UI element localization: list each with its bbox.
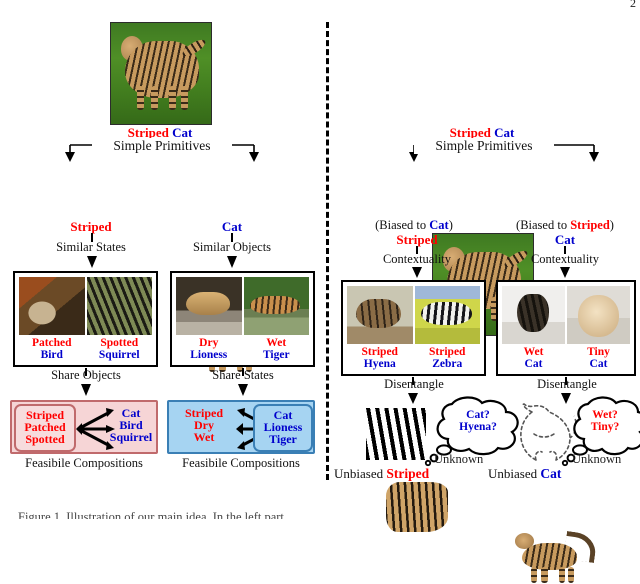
right-cell-2-object: Cat (502, 359, 565, 371)
right-result-0-arrow (405, 393, 421, 406)
right-primitive-1-bias-open: (Biased to (516, 218, 570, 232)
left-panel-1-arrow (224, 256, 240, 270)
left-composition-0-states-group: Striped Patched Spotted (14, 404, 76, 452)
right-result-0-bubble-line-1: Hyena? (440, 422, 516, 434)
right-primitive-0-label: Striped (396, 232, 437, 247)
left-cell-3-object: Tiger (244, 350, 310, 362)
right-cell-2-image (502, 286, 565, 344)
right-result-1-caption-prefix: Unbiased (488, 466, 540, 481)
right-primitive-0-bias-close: ) (449, 218, 453, 232)
figure-caption: Figure 1. Illustration of our main idea.… (18, 510, 628, 519)
left-comp-0-arrow (78, 384, 94, 398)
right-primitive-0-bias: (Biased to Cat) (340, 218, 488, 233)
left-cell-0-object: Bird (19, 350, 85, 362)
right-primitive-1-bias-close: ) (610, 218, 614, 232)
right-cell-1-object: Zebra (415, 359, 481, 371)
right-cell-0-state: Striped (347, 347, 413, 359)
right-simple-primitives-label: Simple Primitives (414, 138, 554, 154)
right-result-0-caption: Unbiased Striped (334, 466, 429, 482)
right-cell-1-image (415, 286, 481, 344)
right-result-0-texture (366, 408, 426, 460)
right-primitive-1-bias: (Biased to Striped) (490, 218, 640, 233)
left-composition-1-state-2: Wet (173, 431, 235, 443)
right-result-0-caption-word: Striped (386, 466, 429, 481)
right-cell-3-state: Tiny (567, 347, 630, 359)
right-panel-disentangle-object: Wet Cat Tiny Cat (496, 280, 636, 376)
right-primitive-0-bias-target: Cat (429, 218, 448, 232)
left-composition-1-objects-group: Cat Lioness Tiger (253, 404, 313, 452)
right-cell-2-state: Wet (502, 347, 565, 359)
left-primitive-0-sub: Similar States (36, 240, 146, 255)
left-comp-1-arrow (235, 384, 251, 398)
left-cell-0-state: Patched (19, 338, 85, 350)
left-cell-2-image (176, 277, 242, 335)
left-cell-0-image (19, 277, 85, 335)
right-primitive-1-sub: Contextuality (506, 252, 624, 267)
left-composition-0: Striped Patched Spotted Cat Bird Squirre… (10, 400, 158, 454)
left-primitive-1-sub: Similar Objects (176, 240, 288, 255)
left-cell-1-image (87, 277, 153, 335)
left-cell-1-state: Spotted (87, 338, 153, 350)
left-composition-1-object-2: Tiger (255, 433, 311, 445)
right-cell-3-image (567, 286, 630, 344)
right-cell-0-object: Hyena (347, 359, 413, 371)
page-marker: 2 (630, 0, 636, 11)
left-primitive-1-label: Cat (222, 219, 242, 234)
right-primitive-0-sub: Contextuality (358, 252, 476, 267)
left-simple-primitives-label: Simple Primitives (92, 138, 232, 154)
left-cell-2-state: Dry (176, 338, 242, 350)
left-cell-1-object: Squirrel (87, 350, 153, 362)
left-cell-2-object: Lioness (176, 350, 242, 362)
right-panel-1-sub: Disentangle (508, 377, 626, 392)
right-cell-3-object: Cat (567, 359, 630, 371)
left-cell-3-state: Wet (244, 338, 310, 350)
right-primitive-1-label: Cat (555, 232, 575, 247)
left-composition-0-caption: Feasibile Compositions (8, 456, 160, 471)
right-result-1-caption-word: Cat (540, 466, 561, 481)
left-panel-0-sub: Share Objects (26, 368, 146, 383)
left-composition-0-object-2: Squirrel (104, 431, 158, 443)
right-primitive-0-image (386, 482, 448, 532)
right-panel-0-sub: Disentangle (355, 377, 473, 392)
left-panel-0-arrow (84, 256, 100, 270)
right-cell-0-image (347, 286, 413, 344)
left-panel-1-sub: Share States (183, 368, 303, 383)
right-primitive-1-image (508, 526, 596, 584)
right-result-0-unknown-label: Unknown (434, 452, 483, 467)
left-composition-0-state-2: Spotted (16, 433, 74, 445)
left-primitive-0-label: Striped (70, 219, 111, 234)
left-cell-3-image (244, 277, 310, 335)
right-panel-0-arrow (409, 267, 425, 280)
left-composition-1: Striped Dry Wet Cat Lioness Tiger (167, 400, 315, 454)
right-primitive-0-bias-open: (Biased to (375, 218, 429, 232)
left-hero-image (110, 22, 212, 125)
right-result-1-unknown-label: Unknown (572, 452, 621, 467)
left-panel-share-states: Dry Lioness Wet Tiger (170, 271, 315, 367)
left-composition-1-caption: Feasibile Compositions (165, 456, 317, 471)
right-panel-disentangle-state: Striped Hyena Striped Zebra (341, 280, 486, 376)
right-cell-1-state: Striped (415, 347, 481, 359)
right-result-0-caption-prefix: Unbiased (334, 466, 386, 481)
figure-canvas: 2 Striped Cat Simple Primitives Striped … (0, 0, 640, 519)
panel-divider (326, 22, 329, 480)
right-result-1-bubble-line-1: Tiny? (576, 422, 634, 434)
left-panel-share-objects: Patched Bird Spotted Squirrel (13, 271, 158, 367)
right-panel-1-arrow (557, 267, 573, 280)
right-primitive-1-bias-target: Striped (570, 218, 610, 232)
right-result-1-caption: Unbiased Cat (488, 466, 561, 482)
